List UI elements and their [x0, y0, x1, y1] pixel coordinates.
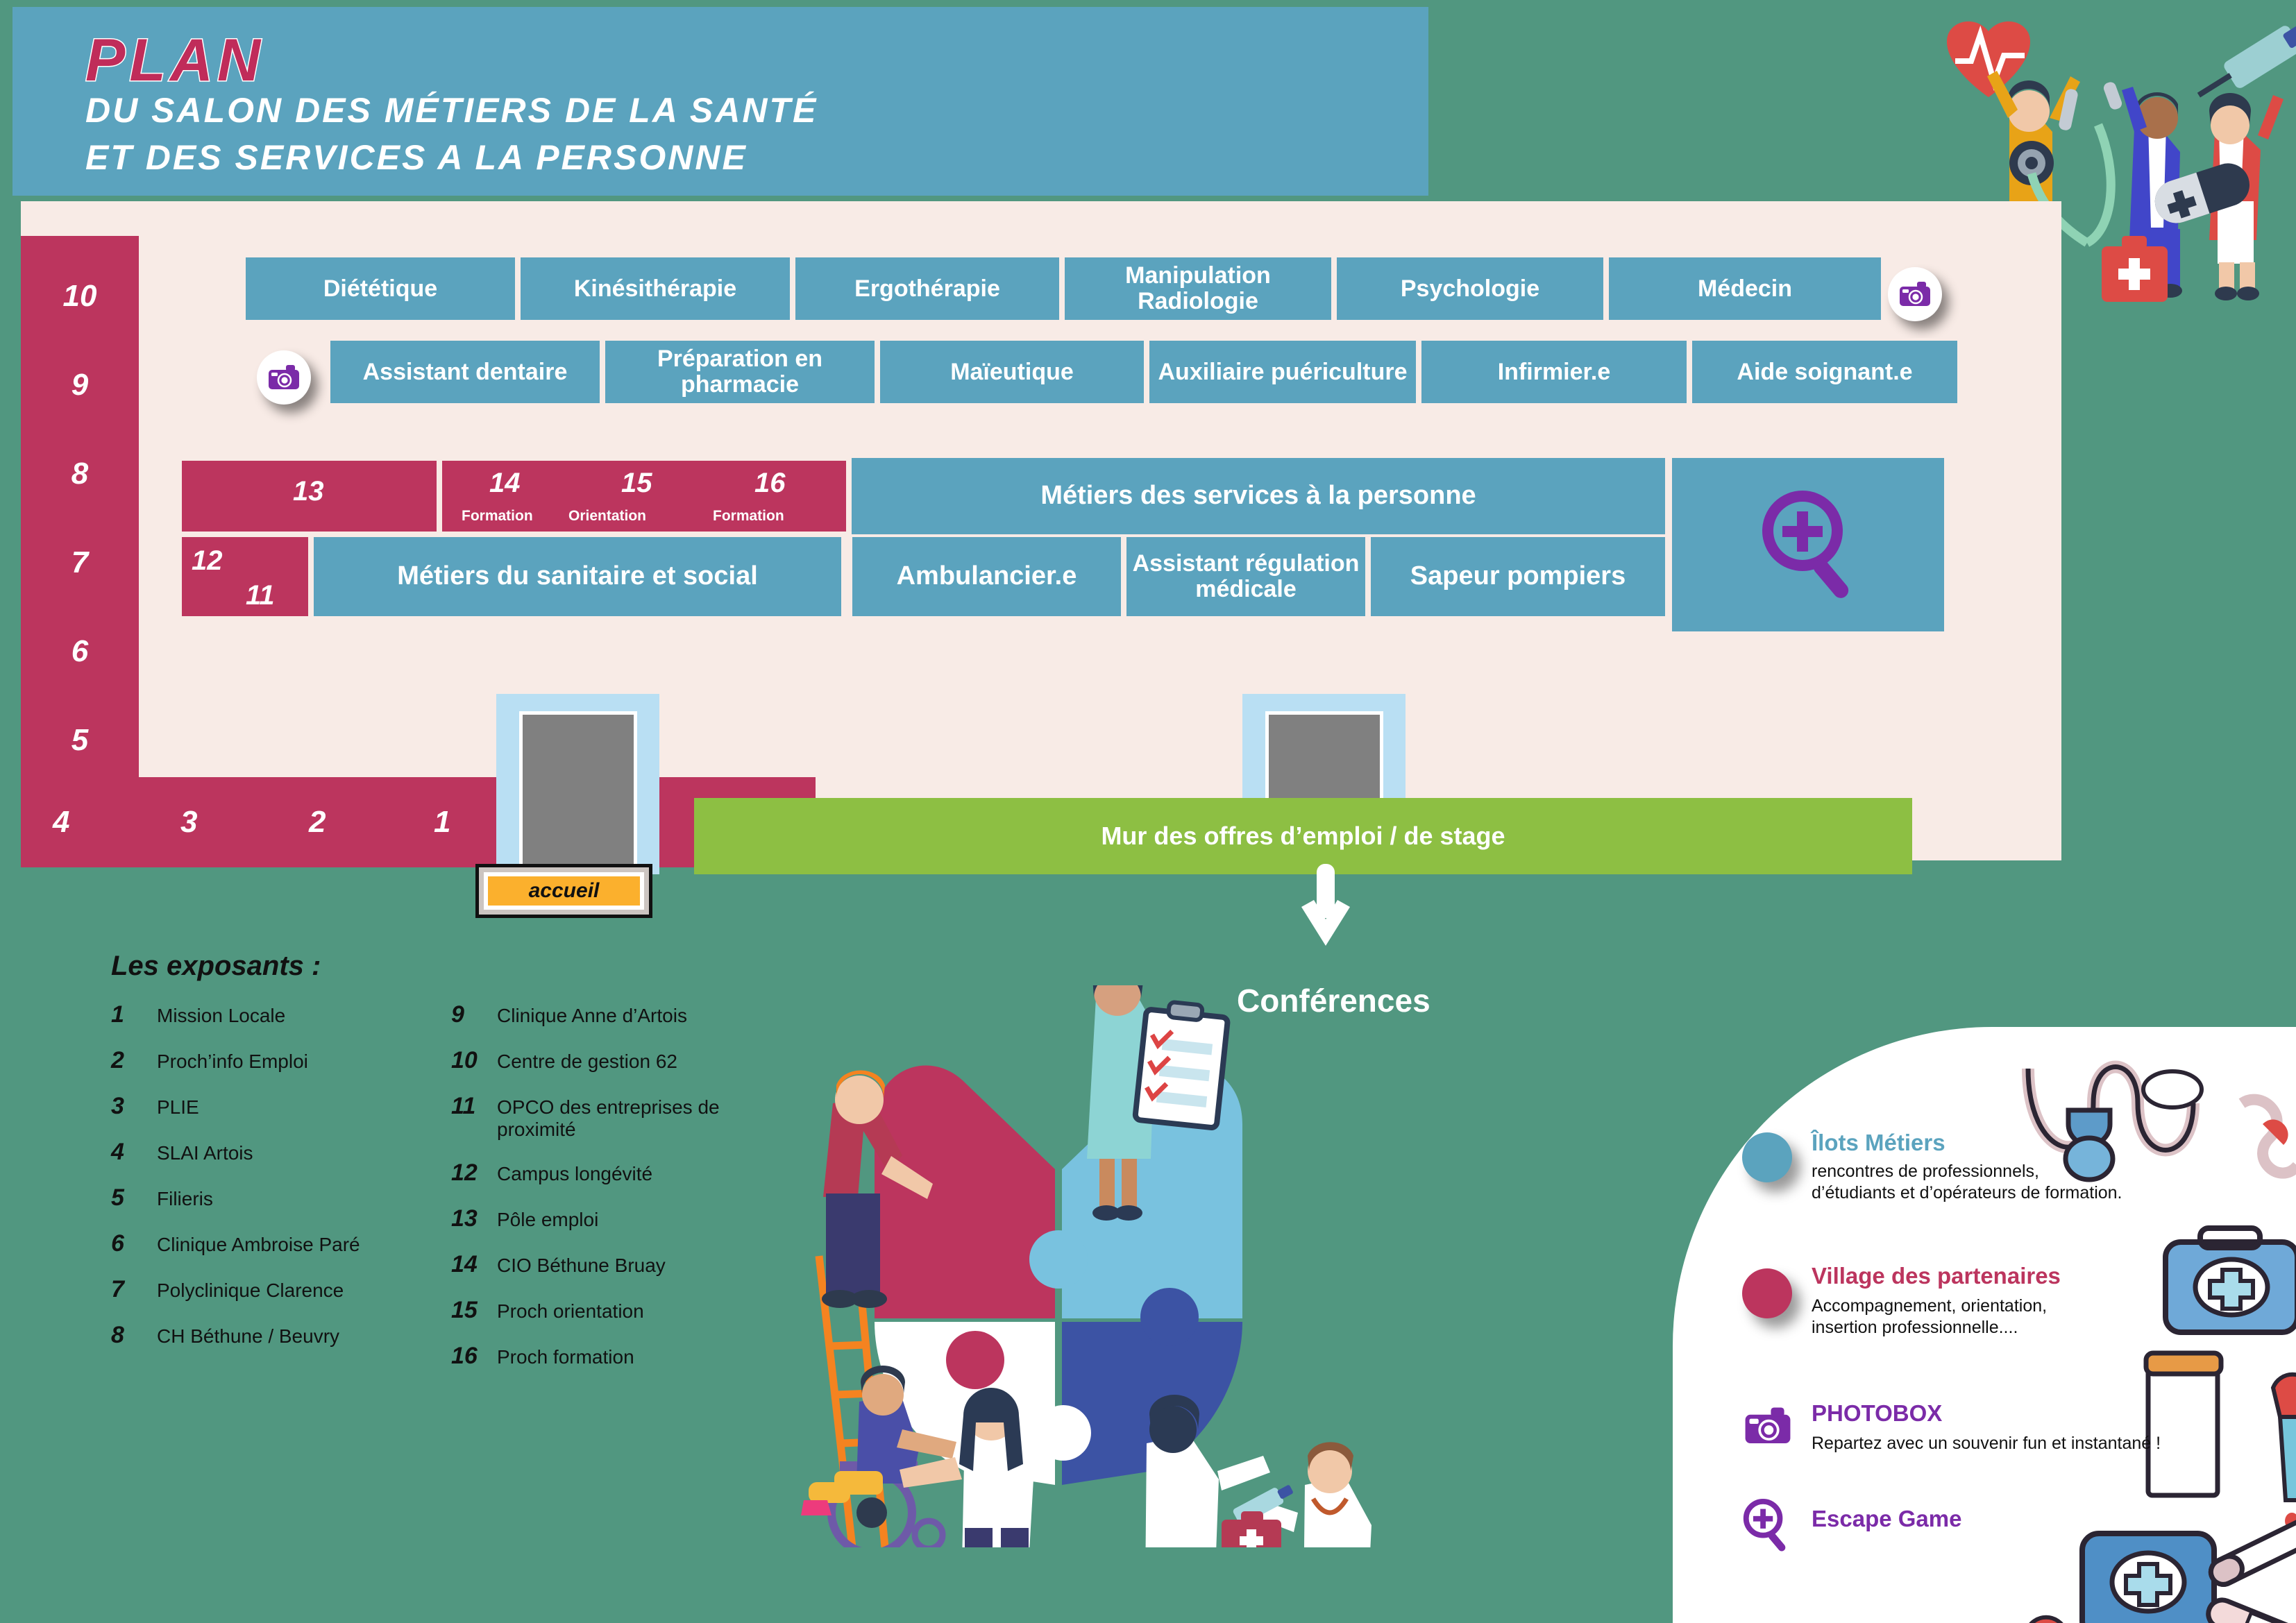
stand-number-3: 3	[180, 805, 197, 840]
exhibitor-name: Clinique Anne d’Artois	[497, 1005, 687, 1027]
job-offers-wall[interactable]: Mur des offres d’emploi / de stage	[694, 798, 1912, 874]
row-number-6: 6	[21, 634, 139, 669]
partner-sublabel-formation-1: Formation	[462, 508, 533, 525]
list-item[interactable]: 4 SLAI Artois	[111, 1139, 410, 1166]
partner-number-12: 12	[192, 545, 223, 577]
header-band: PLAN DU SALON DES MÉTIERS DE LA SANTÉ ET…	[12, 7, 1428, 196]
legend-desc-line1: Accompagnement, orientation,	[1812, 1295, 2047, 1317]
exhibitor-number: 6	[111, 1230, 157, 1257]
booth-label: Préparation en pharmacie	[609, 346, 870, 397]
booth-maieutique[interactable]: Maïeutique	[877, 338, 1147, 406]
partner-number-11: 11	[246, 580, 275, 611]
booth-metiers-sanitaire-social[interactable]: Métiers du sanitaire et social	[311, 534, 844, 619]
exhibitor-number: 16	[451, 1343, 497, 1370]
booth-label: Assistant dentaire	[363, 359, 568, 385]
exhibitor-number: 1	[111, 1001, 157, 1028]
booth-label: Maïeutique	[950, 359, 1074, 385]
exhibitors-title: Les exposants :	[111, 951, 805, 982]
job-offers-wall-label: Mur des offres d’emploi / de stage	[1101, 822, 1505, 851]
exhibitor-name: Filieris	[157, 1188, 213, 1210]
poster-canvas: PLAN DU SALON DES MÉTIERS DE LA SANTÉ ET…	[0, 0, 2296, 1623]
ilots-metiers-dot-icon	[1742, 1132, 1792, 1182]
list-item[interactable]: 2 Proch’info Emploi	[111, 1047, 410, 1074]
list-item[interactable]: 14 CIO Béthune Bruay	[451, 1251, 750, 1278]
village-partenaires-dot-icon	[1742, 1268, 1792, 1318]
booth-preparation-pharmacie[interactable]: Préparation en pharmacie	[602, 338, 877, 406]
exhibitors-column-left: 1 Mission Locale 2 Proch’info Emploi 3 P…	[111, 1001, 410, 1388]
row-number-7: 7	[21, 545, 139, 580]
exhibitor-number: 12	[451, 1159, 497, 1187]
camera-icon	[268, 364, 300, 391]
stand-number-1: 1	[434, 805, 450, 840]
booth-ergotherapie[interactable]: Ergothérapie	[793, 255, 1062, 323]
exhibitor-name: Clinique Ambroise Paré	[157, 1234, 360, 1256]
exhibitor-name: CH Béthune / Beuvry	[157, 1325, 339, 1348]
exhibitor-name: Campus longévité	[497, 1163, 652, 1185]
exhibitor-number: 15	[451, 1297, 497, 1324]
exhibitor-name: Pôle emploi	[497, 1209, 598, 1231]
partner-number-15: 15	[621, 468, 652, 499]
exhibitor-number: 2	[111, 1047, 157, 1074]
stand-row-numbers-column: 10 9 8 7 6 5	[21, 236, 139, 867]
exhibitors-column-right: 9 Clinique Anne d’Artois 10 Centre de ge…	[451, 1001, 750, 1388]
booth-kinesitherapie[interactable]: Kinésithérapie	[518, 255, 793, 323]
booth-label: Aide soignant.e	[1737, 359, 1912, 385]
exhibitor-number: 10	[451, 1047, 497, 1074]
header-subtitle-line2: ET DES SERVICES A LA PERSONNE	[85, 137, 748, 178]
exhibitor-name: OPCO des entreprises de proximité	[497, 1096, 750, 1141]
legend-title-photobox: PHOTOBOX	[1812, 1400, 1942, 1427]
exhibitor-number: 4	[111, 1139, 157, 1166]
exhibitor-name: Polyclinique Clarence	[157, 1280, 344, 1302]
photobox-marker-top-right[interactable]	[1888, 267, 1942, 321]
partner-sublabel-formation-2: Formation	[713, 508, 784, 525]
conference-arrow-icon	[1288, 864, 1364, 954]
booth-label: Métiers du sanitaire et social	[397, 562, 758, 590]
conference-label: Conférences	[1237, 982, 1430, 1019]
row-number-9: 9	[21, 368, 139, 402]
escape-game-zone[interactable]	[1669, 455, 1947, 634]
partner-number-16: 16	[754, 468, 786, 499]
booth-label: Médecin	[1698, 276, 1792, 302]
booth-label: Ambulancier.e	[897, 562, 1077, 590]
exhibitor-number: 8	[111, 1322, 157, 1349]
partner-number-13: 13	[293, 476, 324, 507]
list-item[interactable]: 9 Clinique Anne d’Artois	[451, 1001, 750, 1028]
stand-number-2: 2	[309, 805, 326, 840]
booth-medecin[interactable]: Médecin	[1606, 255, 1884, 323]
list-item[interactable]: 1 Mission Locale	[111, 1001, 410, 1028]
exhibitor-number: 7	[111, 1276, 157, 1303]
exhibitor-name: Proch orientation	[497, 1300, 644, 1323]
camera-icon	[1744, 1407, 1791, 1445]
booth-auxiliaire-puericulture[interactable]: Auxiliaire puériculture	[1147, 338, 1419, 406]
legend-desc-line1: Repartez avec un souvenir fun et instant…	[1812, 1433, 2161, 1454]
legend-desc-line2: insertion professionnelle....	[1812, 1317, 2047, 1339]
booth-sapeur-pompiers[interactable]: Sapeur pompiers	[1368, 534, 1668, 619]
list-item[interactable]: 11 OPCO des entreprises de proximité	[451, 1093, 750, 1141]
stand-number-4: 4	[53, 805, 69, 840]
booth-manipulation-radiologie[interactable]: Manipulation Radiologie	[1062, 255, 1334, 323]
legend-title-escape-game: Escape Game	[1812, 1506, 1961, 1532]
exhibitor-name: Proch formation	[497, 1346, 634, 1368]
booth-metiers-services-personne[interactable]: Métiers des services à la personne	[849, 455, 1668, 537]
list-item[interactable]: 8 CH Béthune / Beuvry	[111, 1322, 410, 1349]
booth-assistant-dentaire[interactable]: Assistant dentaire	[328, 338, 602, 406]
exhibitor-name: PLIE	[157, 1096, 199, 1119]
booth-label: Métiers des services à la personne	[1040, 482, 1476, 510]
list-item[interactable]: 6 Clinique Ambroise Paré	[111, 1230, 410, 1257]
partner-booths-14-15-16[interactable]: 14 15 16 Formation Orientation Formation	[439, 458, 849, 534]
partner-sublabel-orientation: Orientation	[568, 508, 646, 525]
exhibitor-number: 9	[451, 1001, 497, 1028]
list-item[interactable]: 16 Proch formation	[451, 1343, 750, 1370]
legend-desc-village-partenaires: Accompagnement, orientation, insertion p…	[1812, 1295, 2047, 1339]
photobox-marker-left[interactable]	[257, 350, 311, 405]
booth-label: Ergothérapie	[854, 276, 1000, 302]
legend-desc-line1: rencontres de professionnels,	[1812, 1161, 2122, 1182]
exhibitor-name: Centre de gestion 62	[497, 1051, 677, 1073]
exhibitor-name: Mission Locale	[157, 1005, 285, 1027]
row-number-8: 8	[21, 457, 139, 491]
reception-label: accueil	[484, 872, 644, 910]
booth-ambulancier[interactable]: Ambulancier.e	[850, 534, 1124, 619]
legend-desc-ilots-metiers: rencontres de professionnels, d’étudiant…	[1812, 1161, 2122, 1205]
photobox-legend-icon-wrap	[1741, 1402, 1795, 1450]
escape-game-legend-icon-wrap	[1738, 1497, 1793, 1553]
magnifier-plus-icon	[1759, 489, 1857, 600]
legend-panel: Îlots Métiers rencontres de professionne…	[1673, 1027, 2296, 1623]
puzzle-heart-illustration	[736, 985, 1388, 1547]
exhibitor-name: Proch’info Emploi	[157, 1051, 308, 1073]
row-number-5: 5	[21, 723, 139, 758]
list-item[interactable]: 13 Pôle emploi	[451, 1205, 750, 1232]
page-title: PLAN	[85, 26, 264, 95]
booth-infirmier[interactable]: Infirmier.e	[1419, 338, 1689, 406]
partner-number-14: 14	[489, 468, 521, 499]
booth-label: Kinésithérapie	[574, 276, 736, 302]
row-number-10: 10	[21, 279, 139, 314]
header-subtitle-line1: DU SALON DES MÉTIERS DE LA SANTÉ	[85, 90, 818, 130]
legend-title-ilots-metiers: Îlots Métiers	[1812, 1130, 1945, 1156]
booth-label: Assistant régulation médicale	[1131, 551, 1361, 602]
reception-box[interactable]: accueil	[475, 864, 652, 918]
magnifier-plus-icon	[1741, 1498, 1791, 1552]
booth-label: Diététique	[323, 276, 437, 302]
camera-icon	[1899, 281, 1931, 307]
list-item[interactable]: 7 Polyclinique Clarence	[111, 1276, 410, 1303]
booth-label: Sapeur pompiers	[1410, 562, 1626, 590]
list-item[interactable]: 5 Filieris	[111, 1184, 410, 1212]
legend-title-village-partenaires: Village des partenaires	[1812, 1263, 2061, 1289]
exhibitor-number: 13	[451, 1205, 497, 1232]
booth-dietetique[interactable]: Diététique	[243, 255, 518, 323]
list-item[interactable]: 10 Centre de gestion 62	[451, 1047, 750, 1074]
booth-label: Infirmier.e	[1498, 359, 1611, 385]
legend-desc-photobox: Repartez avec un souvenir fun et instant…	[1812, 1433, 2161, 1454]
exhibitor-number: 11	[451, 1093, 497, 1120]
exhibitors-section: Les exposants : 1 Mission Locale 2 Proch…	[111, 951, 805, 1388]
exhibitor-name: CIO Béthune Bruay	[497, 1255, 666, 1277]
booth-assistant-regulation-medicale[interactable]: Assistant régulation médicale	[1124, 534, 1368, 619]
exhibitor-name: SLAI Artois	[157, 1142, 253, 1164]
exhibitor-number: 14	[451, 1251, 497, 1278]
partner-booth-12-11[interactable]: 12 11	[179, 534, 311, 619]
partner-booth-13[interactable]: 13	[179, 458, 439, 534]
list-item[interactable]: 12 Campus longévité	[451, 1159, 750, 1187]
exhibitor-number: 3	[111, 1093, 157, 1120]
booth-label: Manipulation Radiologie	[1069, 263, 1327, 314]
legend-desc-line2: d’étudiants et d’opérateurs de formation…	[1812, 1182, 2122, 1204]
exhibitor-number: 5	[111, 1184, 157, 1212]
list-item[interactable]: 3 PLIE	[111, 1093, 410, 1120]
booth-aide-soignant[interactable]: Aide soignant.e	[1689, 338, 1960, 406]
booth-label: Auxiliaire puériculture	[1158, 359, 1408, 385]
list-item[interactable]: 15 Proch orientation	[451, 1297, 750, 1324]
stage-pillar-left-inner	[519, 711, 637, 874]
booth-label: Psychologie	[1401, 276, 1539, 302]
booth-psychologie[interactable]: Psychologie	[1334, 255, 1606, 323]
